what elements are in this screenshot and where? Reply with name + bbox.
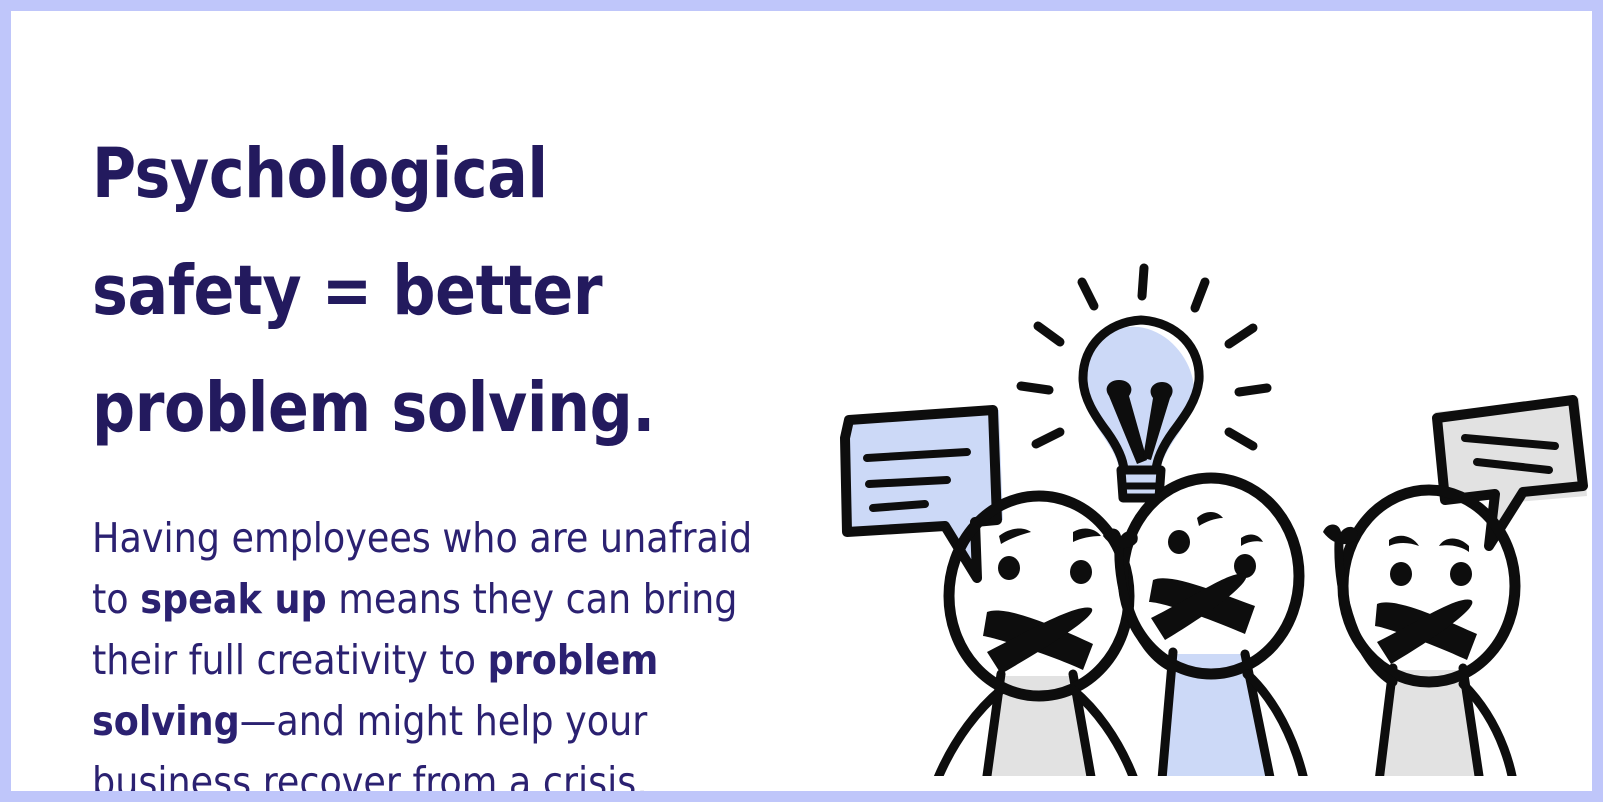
stick-figures-illustration [801, 246, 1601, 776]
lightbulb-icon [1021, 268, 1267, 498]
taped-mouth-x [983, 608, 1093, 674]
card-inner: Psychological safety = better problem so… [11, 11, 1592, 791]
body-emphasis: speak up [140, 575, 326, 623]
taped-mouth-x [1375, 600, 1477, 664]
infographic-card: Psychological safety = better problem so… [0, 0, 1603, 802]
middle-figure [1103, 478, 1309, 776]
right-speech-bubble [1435, 398, 1587, 546]
taped-mouth-x [1149, 574, 1255, 640]
page-title: Psychological safety = better problem so… [92, 116, 761, 467]
text-column: Psychological safety = better problem so… [92, 116, 782, 802]
left-speech-bubble [845, 410, 1003, 578]
body-paragraph: Having employees who are unafraid to spe… [92, 467, 775, 802]
